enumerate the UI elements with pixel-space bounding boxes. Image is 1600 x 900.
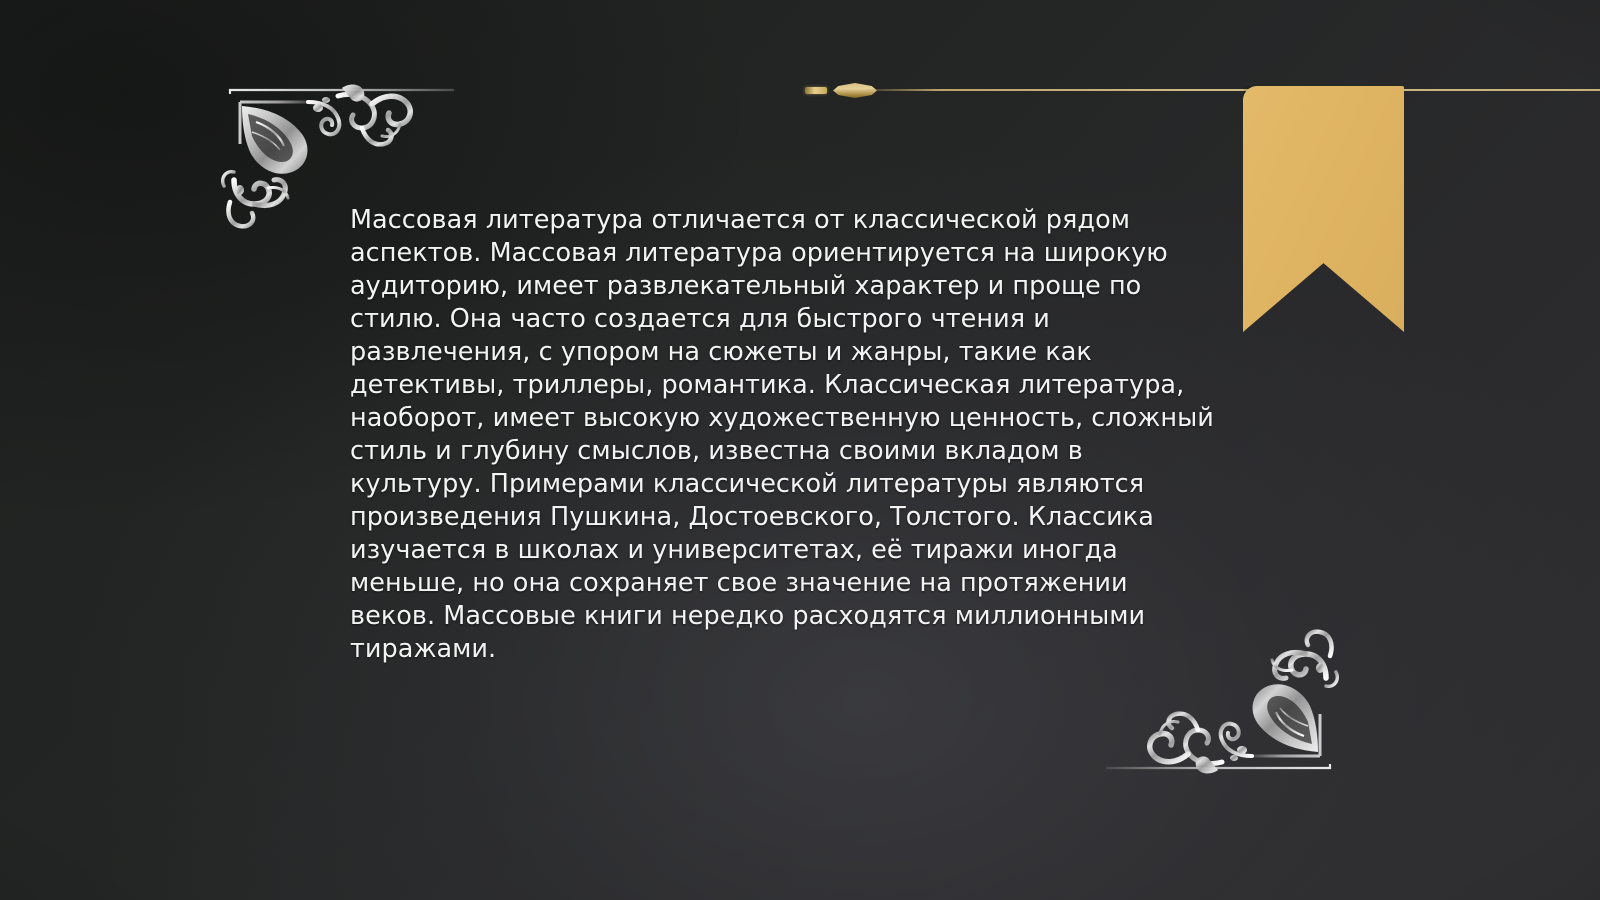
slide-canvas: Массовая литература отличается от класси… [0, 0, 1600, 900]
gold-rule-bead-icon [805, 87, 827, 94]
gold-divider-rule [800, 80, 1600, 102]
bookmark-ribbon-icon [1243, 86, 1404, 332]
gold-rule-line [866, 89, 1600, 91]
slide-body-text: Массовая литература отличается от класси… [350, 204, 1216, 666]
